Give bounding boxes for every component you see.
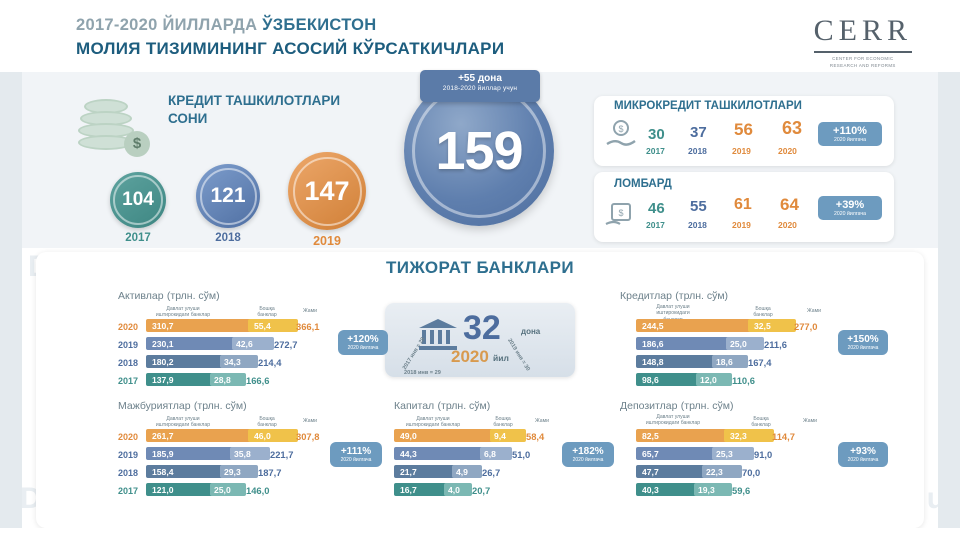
majburiyatlar-growth-badge: +111% 2020 йилгача bbox=[330, 442, 382, 467]
majburiyatlar-unit: (трлн. сўм) bbox=[194, 400, 247, 412]
kapital-colhdr-state: Давлат улушииштирокидаги банклар bbox=[400, 416, 466, 429]
majburiyatlar-colhdr-other: Бошқабанклар bbox=[250, 416, 284, 429]
kreditlar-colhdr-total: Жами bbox=[800, 308, 828, 314]
microcredit-year-2018: 2018 bbox=[688, 146, 707, 156]
aktivlar-title-text: Активлар bbox=[118, 290, 164, 302]
lombard-growth-note: 2020 йилгача bbox=[823, 211, 877, 217]
page-header: 2017-2020 ЙИЛЛАРДА ЎЗБЕКИСТОН МОЛИЯ ТИЗИ… bbox=[0, 0, 960, 72]
depozitlar-bar-state-2018: 47,7 bbox=[636, 465, 706, 478]
medal-2019-value: 147 bbox=[293, 157, 362, 226]
banks-count-year: 2020 bbox=[451, 347, 489, 367]
aktivlar-bar-other-2017: 28,8 bbox=[210, 373, 246, 386]
majburiyatlar-row-year-2020: 2020 bbox=[118, 432, 138, 442]
total-ring: 159 bbox=[412, 84, 546, 218]
depozitlar-colhdr-total: Жами bbox=[796, 418, 824, 424]
kapital-growth-badge: +182% 2020 йилгача bbox=[562, 442, 614, 467]
dollar-icon: $ bbox=[124, 131, 150, 157]
aktivlar-colhdr-state: Давлат улушииштирокидаги банклар bbox=[150, 306, 216, 319]
kreditlar-bar-state-2020: 244,5 bbox=[636, 319, 752, 332]
credit-org-title: КРЕДИТ ТАШКИЛОТЛАРИ СОНИ bbox=[168, 92, 340, 128]
lombard-value-2019: 61 bbox=[734, 196, 752, 214]
kapital-total-2019: 51,0 bbox=[512, 449, 530, 460]
microcredit-value-2019: 56 bbox=[734, 120, 753, 140]
lombard-year-2018: 2018 bbox=[688, 220, 707, 230]
majburiyatlar-bar-state-2017: 121,0 bbox=[146, 483, 214, 496]
aktivlar-growth-value: +120% bbox=[342, 334, 384, 345]
depozitlar-growth-value: +93% bbox=[842, 446, 884, 457]
kapital-growth-note: 2020 йилгача bbox=[566, 457, 610, 463]
microcredit-value-2018: 37 bbox=[690, 124, 707, 141]
kapital-unit: (трлн. сўм) bbox=[438, 400, 491, 412]
kreditlar-bar-state-2019: 186,6 bbox=[636, 337, 730, 350]
microcredit-year-2020: 2020 bbox=[778, 146, 797, 156]
kapital-bar-other-2020: 9,4 bbox=[490, 429, 526, 442]
header-line-2: МОЛИЯ ТИЗИМИНИНГ АСОСИЙ КЎРСАТКИЧЛАРИ bbox=[76, 39, 504, 59]
majburiyatlar-total-2018: 187,7 bbox=[258, 467, 281, 478]
depozitlar-bar-state-2019: 65,7 bbox=[636, 447, 716, 460]
lombard-value-2018: 55 bbox=[690, 198, 707, 215]
aktivlar-growth-note: 2020 йилгача bbox=[342, 345, 384, 351]
header-text: 2017-2020 ЙИЛЛАРДА ЎЗБЕКИСТОН МОЛИЯ ТИЗИ… bbox=[76, 16, 504, 59]
depozitlar-bar-other-2019: 25,3 bbox=[712, 447, 754, 460]
logo-subtitle-1: CENTER FOR ECONOMIC bbox=[814, 56, 912, 63]
majburiyatlar-bar-state-2020: 261,7 bbox=[146, 429, 252, 442]
lombard-value-2020: 64 bbox=[780, 195, 799, 215]
aktivlar-total-2018: 214,4 bbox=[258, 357, 281, 368]
svg-text:$: $ bbox=[618, 124, 623, 134]
microcredit-value-2020: 63 bbox=[782, 118, 802, 139]
majburiyatlar-bar-other-2020: 46,0 bbox=[248, 429, 298, 442]
kapital-title: Капитал (трлн. сўм) bbox=[394, 398, 490, 412]
kreditlar-bar-other-2018: 18,6 bbox=[712, 355, 748, 368]
kreditlar-title: Кредитлар (трлн. сўм) bbox=[620, 288, 728, 302]
medal-2017: 104 bbox=[110, 172, 166, 228]
depozitlar-bar-other-2018: 22,3 bbox=[702, 465, 742, 478]
aktivlar-bar-state-2019: 230,1 bbox=[146, 337, 236, 350]
majburiyatlar-bar-other-2019: 35,8 bbox=[230, 447, 270, 460]
kapital-colhdr-total: Жами bbox=[528, 418, 556, 424]
kreditlar-growth-note: 2020 йилгача bbox=[842, 345, 884, 351]
cerr-logo: CERR CENTER FOR ECONOMIC RESEARCH AND RE… bbox=[814, 14, 912, 69]
majburiyatlar-row-year-2018: 2018 bbox=[118, 468, 138, 478]
majburiyatlar-total-2017: 146,0 bbox=[246, 485, 269, 496]
right-strip bbox=[938, 72, 960, 540]
lombard-growth-badge: +39% 2020 йилгача bbox=[818, 196, 882, 220]
majburiyatlar-bar-state-2019: 185,9 bbox=[146, 447, 234, 460]
aktivlar-row-year-2020: 2020 bbox=[118, 322, 138, 332]
header-line-1-a: 2017-2020 ЙИЛЛАРДА bbox=[76, 16, 262, 34]
microcredit-year-2017: 2017 bbox=[646, 146, 665, 156]
kreditlar-growth-value: +150% bbox=[842, 334, 884, 345]
medal-2017-year: 2017 bbox=[110, 232, 166, 244]
majburiyatlar-colhdr-state: Давлат улушииштирокидаги банклар bbox=[150, 416, 216, 429]
aktivlar-row-year-2019: 2019 bbox=[118, 340, 138, 350]
majburiyatlar-bar-other-2017: 25,0 bbox=[210, 483, 246, 496]
kreditlar-colhdr-other: Бошқабанклар bbox=[746, 306, 780, 319]
kreditlar-bar-other-2019: 25,0 bbox=[726, 337, 764, 350]
depozitlar-total-2017: 59,6 bbox=[732, 485, 750, 496]
depozitlar-growth-note: 2020 йилгача bbox=[842, 457, 884, 463]
coins-icon: $ bbox=[78, 95, 150, 157]
credit-org-title-line2: СОНИ bbox=[168, 110, 340, 128]
depozitlar-total-2019: 91,0 bbox=[754, 449, 772, 460]
kapital-bar-other-2017: 4,0 bbox=[444, 483, 472, 496]
medal-2019: 147 bbox=[288, 152, 366, 230]
kreditlar-bar-state-2017: 98,6 bbox=[636, 373, 700, 386]
majburiyatlar-row-year-2017: 2017 bbox=[118, 486, 138, 496]
aktivlar-bar-other-2020: 55,4 bbox=[248, 319, 298, 332]
aktivlar-bar-other-2019: 42,6 bbox=[232, 337, 274, 350]
depozitlar-colhdr-other: Бошқабанклар bbox=[744, 416, 778, 429]
ribbon-note: 2018-2020 йиллар учун bbox=[420, 85, 540, 92]
aktivlar-unit: (трлн. сўм) bbox=[167, 290, 220, 302]
aktivlar-title: Активлар (трлн. сўм) bbox=[118, 288, 220, 302]
microcredit-growth-note: 2020 йилгача bbox=[823, 137, 877, 143]
growth-ribbon: +55 дона 2018-2020 йиллар учун bbox=[420, 70, 540, 102]
header-line-1-b: ЎЗБЕКИСТОН bbox=[262, 16, 376, 34]
kapital-bar-other-2018: 4,9 bbox=[452, 465, 482, 478]
depozitlar-bar-state-2017: 40,3 bbox=[636, 483, 698, 496]
logo-rule bbox=[814, 51, 912, 53]
page-footer bbox=[0, 528, 960, 540]
microcredit-growth-badge: +110% 2020 йилгача bbox=[818, 122, 882, 146]
majburiyatlar-bar-state-2018: 158,4 bbox=[146, 465, 224, 478]
kreditlar-bar-other-2017: 12,0 bbox=[696, 373, 732, 386]
banks-tag-2018: 2018 инв = 29 bbox=[404, 370, 441, 376]
ribbon-value: +55 дона bbox=[420, 73, 540, 84]
left-strip bbox=[0, 72, 22, 540]
kreditlar-unit: (трлн. сўм) bbox=[675, 290, 728, 302]
depozitlar-total-2018: 70,0 bbox=[742, 467, 760, 478]
medal-2017-value: 104 bbox=[113, 175, 163, 225]
kapital-total-2020: 58,4 bbox=[526, 431, 544, 442]
hand-money-icon: $ bbox=[604, 118, 638, 152]
depozitlar-bar-other-2020: 32,3 bbox=[724, 429, 774, 442]
majburiyatlar-total-2020: 307,8 bbox=[296, 431, 319, 442]
kreditlar-total-2017: 110,6 bbox=[732, 375, 755, 386]
microcredit-year-2019: 2019 bbox=[732, 146, 751, 156]
aktivlar-colhdr-total: Жами bbox=[296, 308, 324, 314]
medal-2018: 121 bbox=[196, 164, 260, 228]
kreditlar-title-text: Кредитлар bbox=[620, 290, 672, 302]
kreditlar-total-2020: 277,0 bbox=[794, 321, 817, 332]
lombard-title: ЛОМБАРД bbox=[614, 178, 672, 190]
depozitlar-colhdr-state: Давлат улушииштирокидаги банклар bbox=[640, 414, 706, 427]
aktivlar-bar-state-2017: 137,9 bbox=[146, 373, 214, 386]
credit-org-title-line1: КРЕДИТ ТАШКИЛОТЛАРИ bbox=[168, 92, 340, 110]
aktivlar-bar-other-2018: 34,3 bbox=[220, 355, 258, 368]
depozitlar-bar-other-2017: 19,3 bbox=[694, 483, 732, 496]
depozitlar-unit: (трлн. сўм) bbox=[681, 400, 734, 412]
majburiyatlar-row-year-2019: 2019 bbox=[118, 450, 138, 460]
majburiyatlar-total-2019: 221,7 bbox=[270, 449, 293, 460]
aktivlar-total-2019: 272,7 bbox=[274, 339, 297, 350]
logo-subtitle-2: RESEARCH AND REFORMS bbox=[814, 63, 912, 70]
kapital-total-2017: 20,7 bbox=[472, 485, 490, 496]
lombard-year-2020: 2020 bbox=[778, 220, 797, 230]
money-bag-icon: $ bbox=[604, 194, 636, 228]
kreditlar-bar-other-2020: 32,5 bbox=[748, 319, 796, 332]
kreditlar-total-2018: 167,4 bbox=[748, 357, 771, 368]
microcredit-growth-value: +110% bbox=[823, 125, 877, 137]
banks-count-year-suffix: йил bbox=[493, 353, 509, 363]
aktivlar-row-year-2018: 2018 bbox=[118, 358, 138, 368]
aktivlar-total-2020: 366,1 bbox=[296, 321, 319, 332]
majburiyatlar-title-text: Мажбуриятлар bbox=[118, 400, 191, 412]
majburiyatlar-title: Мажбуриятлар (трлн. сўм) bbox=[118, 398, 247, 412]
aktivlar-growth-badge: +120% 2020 йилгача bbox=[338, 330, 388, 355]
lombard-growth-value: +39% bbox=[823, 199, 877, 211]
kapital-bar-state-2019: 44,3 bbox=[394, 447, 484, 460]
svg-text:$: $ bbox=[618, 208, 623, 218]
kapital-bar-other-2019: 6,8 bbox=[480, 447, 512, 460]
majburiyatlar-growth-value: +111% bbox=[334, 446, 378, 457]
depozitlar-title: Депозитлар (трлн. сўм) bbox=[620, 398, 734, 412]
banks-count-unit: дона bbox=[521, 327, 540, 336]
majburiyatlar-colhdr-total: Жами bbox=[296, 418, 324, 424]
kapital-title-text: Капитал bbox=[394, 400, 434, 412]
lombard-value-2017: 46 bbox=[648, 200, 665, 217]
depozitlar-growth-badge: +93% 2020 йилгача bbox=[838, 442, 888, 467]
depozitlar-total-2020: 114,7 bbox=[772, 431, 795, 442]
kapital-total-2018: 26,7 bbox=[482, 467, 500, 478]
kreditlar-total-2019: 211,6 bbox=[764, 339, 787, 350]
kreditlar-growth-badge: +150% 2020 йилгача bbox=[838, 330, 888, 355]
kapital-bar-state-2020: 49,0 bbox=[394, 429, 494, 442]
depozitlar-bar-state-2020: 82,5 bbox=[636, 429, 728, 442]
kapital-growth-value: +182% bbox=[566, 446, 610, 457]
total-credit-orgs-value: 159 bbox=[435, 120, 522, 182]
aktivlar-row-year-2017: 2017 bbox=[118, 376, 138, 386]
microcredit-value-2017: 30 bbox=[648, 126, 665, 143]
medal-2018-year: 2018 bbox=[196, 232, 260, 244]
kreditlar-bar-state-2018: 148,8 bbox=[636, 355, 716, 368]
banks-count-value: 32 bbox=[463, 309, 501, 348]
commercial-banks-title: ТИЖОРАТ БАНКЛАРИ bbox=[0, 258, 960, 278]
majburiyatlar-growth-note: 2020 йилгача bbox=[334, 457, 378, 463]
majburiyatlar-bar-other-2018: 29,3 bbox=[220, 465, 258, 478]
kapital-bar-state-2017: 16,7 bbox=[394, 483, 448, 496]
infographic-page: Docx.uz Docx.uz Docx.uz Docx.uz Docx.uz … bbox=[0, 0, 960, 540]
depozitlar-title-text: Депозитлар bbox=[620, 400, 677, 412]
medal-2019-year: 2019 bbox=[288, 234, 366, 248]
lombard-year-2019: 2019 bbox=[732, 220, 751, 230]
logo-text: CERR bbox=[814, 14, 912, 48]
microcredit-title: МИКРОКРЕДИТ ТАШКИЛОТЛАРИ bbox=[614, 100, 802, 112]
medal-2018-value: 121 bbox=[200, 168, 257, 225]
header-line-1: 2017-2020 ЙИЛЛАРДА ЎЗБЕКИСТОН bbox=[76, 16, 504, 35]
kapital-colhdr-other: Бошқабанклар bbox=[486, 416, 520, 429]
lombard-year-2017: 2017 bbox=[646, 220, 665, 230]
aktivlar-bar-state-2020: 310,7 bbox=[146, 319, 252, 332]
aktivlar-total-2017: 166,6 bbox=[246, 375, 269, 386]
aktivlar-colhdr-other: Бошқабанклар bbox=[250, 306, 284, 319]
aktivlar-bar-state-2018: 180,2 bbox=[146, 355, 224, 368]
kapital-bar-state-2018: 21,7 bbox=[394, 465, 456, 478]
